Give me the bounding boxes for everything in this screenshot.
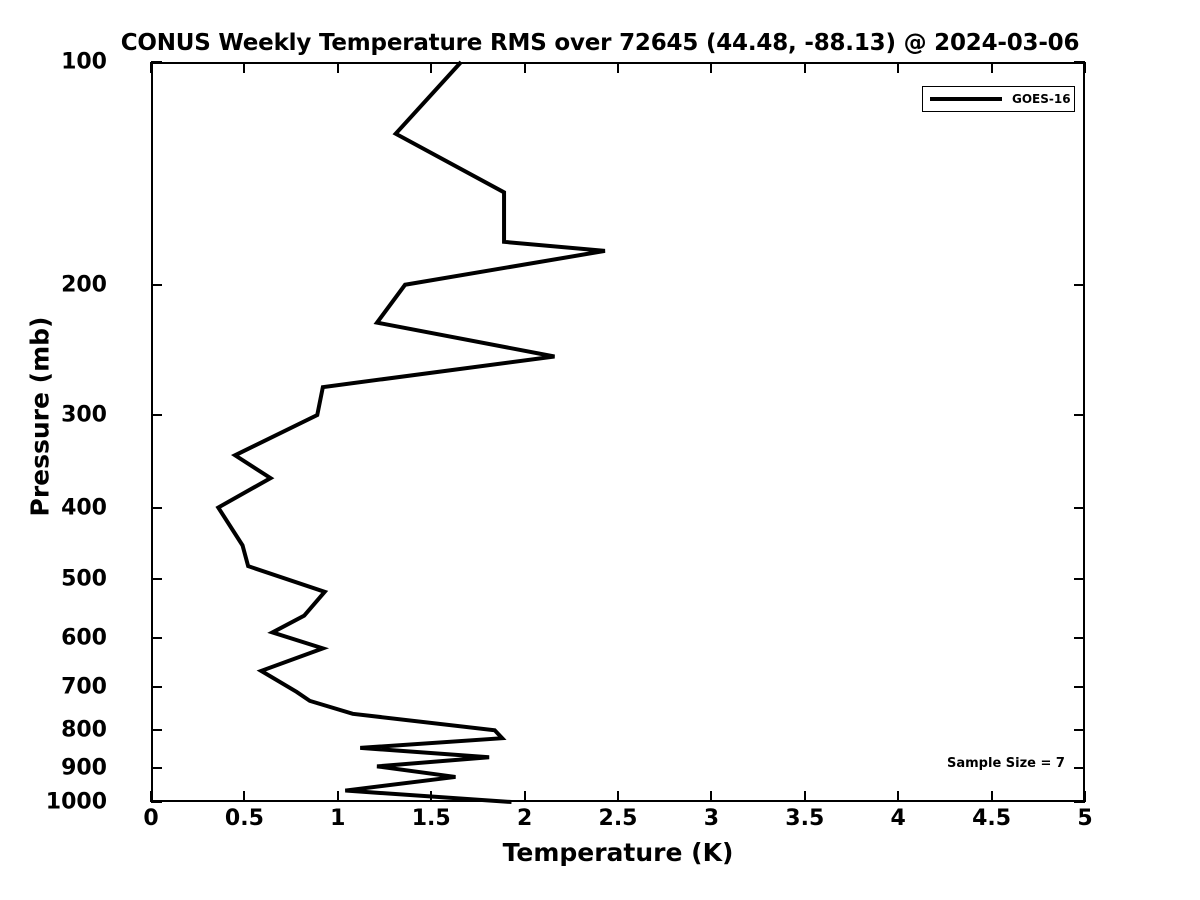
x-axis-tick-label-2: 2 xyxy=(517,806,532,831)
x-axis-tick-label-1.5: 1.5 xyxy=(412,806,451,831)
y-axis-tick-label-500: 500 xyxy=(61,567,107,592)
x-axis-label: Temperature (K) xyxy=(151,838,1085,867)
y-axis-tick-100 xyxy=(151,61,162,63)
x-axis-tick-4.5 xyxy=(991,62,993,73)
y-axis-tick-400 xyxy=(1074,507,1085,509)
y-axis-tick-300 xyxy=(151,414,162,416)
y-axis-tick-500 xyxy=(151,578,162,580)
y-axis-tick-500 xyxy=(1074,578,1085,580)
x-axis-tick-label-3.5: 3.5 xyxy=(785,806,824,831)
y-axis-tick-900 xyxy=(1074,767,1085,769)
y-axis-tick-label-700: 700 xyxy=(61,675,107,700)
x-axis-tick-3.5 xyxy=(804,62,806,73)
y-axis-tick-600 xyxy=(1074,637,1085,639)
y-axis-tick-label-200: 200 xyxy=(61,272,107,297)
x-axis-tick-2 xyxy=(524,62,526,73)
x-axis-tick-0 xyxy=(150,62,152,73)
x-axis-tick-label-3: 3 xyxy=(704,806,719,831)
legend: GOES-16 xyxy=(922,86,1075,112)
x-axis-tick-label-4.5: 4.5 xyxy=(972,806,1011,831)
y-axis-tick-400 xyxy=(151,507,162,509)
y-axis-tick-label-800: 800 xyxy=(61,718,107,743)
y-axis-tick-label-1000: 1000 xyxy=(46,790,107,815)
x-axis-tick-1.5 xyxy=(430,791,432,802)
x-axis-tick-4 xyxy=(897,62,899,73)
x-axis-tick-label-0.5: 0.5 xyxy=(225,806,264,831)
y-axis-tick-label-400: 400 xyxy=(61,495,107,520)
x-axis-tick-1 xyxy=(337,62,339,73)
y-axis-tick-label-900: 900 xyxy=(61,756,107,781)
y-axis-tick-200 xyxy=(1074,284,1085,286)
y-axis-tick-800 xyxy=(151,729,162,731)
y-axis-label: Pressure (mb) xyxy=(26,267,55,567)
x-axis-tick-0.5 xyxy=(243,791,245,802)
x-axis-tick-5 xyxy=(1084,791,1086,802)
x-axis-tick-0.5 xyxy=(243,62,245,73)
x-axis-tick-2 xyxy=(524,791,526,802)
y-axis-tick-600 xyxy=(151,637,162,639)
legend-label-goes-16: GOES-16 xyxy=(1012,92,1071,106)
legend-swatch-goes-16 xyxy=(930,97,1002,101)
x-axis-tick-label-4: 4 xyxy=(891,806,906,831)
x-axis-tick-3 xyxy=(710,791,712,802)
x-axis-tick-2.5 xyxy=(617,791,619,802)
sample-size-annotation: Sample Size = 7 xyxy=(947,756,1065,771)
y-axis-tick-700 xyxy=(1074,686,1085,688)
plot-area xyxy=(151,62,1085,802)
chart-canvas: CONUS Weekly Temperature RMS over 72645 … xyxy=(0,0,1200,900)
x-axis-tick-0 xyxy=(150,791,152,802)
y-axis-tick-200 xyxy=(151,284,162,286)
x-axis-tick-1 xyxy=(337,791,339,802)
y-axis-tick-800 xyxy=(1074,729,1085,731)
x-axis-tick-1.5 xyxy=(430,62,432,73)
x-axis-tick-label-0: 0 xyxy=(143,806,158,831)
x-axis-tick-2.5 xyxy=(617,62,619,73)
y-axis-tick-900 xyxy=(151,767,162,769)
y-axis-tick-300 xyxy=(1074,414,1085,416)
y-axis-tick-label-600: 600 xyxy=(61,625,107,650)
page-title: CONUS Weekly Temperature RMS over 72645 … xyxy=(0,30,1200,56)
y-axis-tick-label-100: 100 xyxy=(61,50,107,75)
series-layer xyxy=(151,62,1085,802)
x-axis-tick-3.5 xyxy=(804,791,806,802)
x-axis-tick-label-5: 5 xyxy=(1077,806,1092,831)
x-axis-tick-label-2.5: 2.5 xyxy=(599,806,638,831)
series-line-goes-16 xyxy=(218,62,605,802)
x-axis-tick-label-1: 1 xyxy=(330,806,345,831)
y-axis-tick-label-300: 300 xyxy=(61,403,107,428)
y-axis-tick-1000 xyxy=(151,801,162,803)
x-axis-tick-4 xyxy=(897,791,899,802)
x-axis-tick-3 xyxy=(710,62,712,73)
y-axis-tick-700 xyxy=(151,686,162,688)
x-axis-tick-5 xyxy=(1084,62,1086,73)
x-axis-tick-4.5 xyxy=(991,791,993,802)
